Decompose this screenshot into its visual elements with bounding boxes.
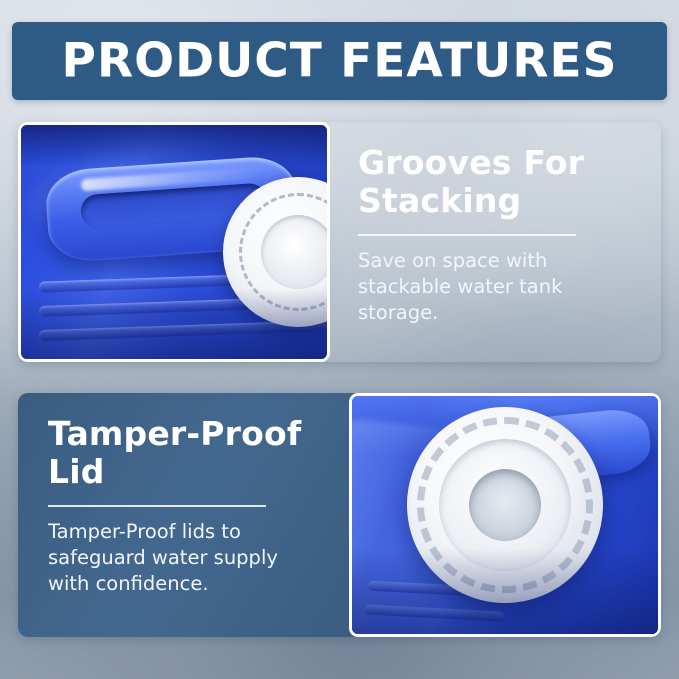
cap-inner-hole [469, 469, 541, 541]
feature-image-grooves-for-stacking [18, 122, 330, 362]
page-title: PRODUCT FEATURES [12, 38, 667, 85]
feature-title: Grooves For Stacking [358, 144, 635, 221]
feature-description: Save on space with stackable water tank … [358, 248, 613, 326]
feature-description: Tamper-Proof lids to safeguard water sup… [48, 519, 303, 597]
feature-card-grooves-for-stacking: Grooves For Stacking Save on space with … [18, 122, 661, 362]
feature-text-tamper-proof-lid: Tamper-Proof Lid Tamper-Proof lids to sa… [18, 393, 349, 637]
feature-card-tamper-proof-lid: Tamper-Proof Lid Tamper-Proof lids to sa… [18, 393, 661, 637]
divider [48, 505, 266, 507]
divider [358, 234, 576, 236]
header-banner: PRODUCT FEATURES [12, 22, 667, 100]
feature-image-tamper-proof-lid [349, 393, 661, 637]
product-features-infographic: PRODUCT FEATURES Grooves For Stacking Sa… [0, 0, 679, 679]
feature-title: Tamper-Proof Lid [48, 415, 331, 492]
feature-text-grooves-for-stacking: Grooves For Stacking Save on space with … [330, 122, 661, 362]
image-bottom-shadow [21, 289, 327, 359]
cap-center [261, 215, 330, 289]
image-bottom-shadow [352, 548, 658, 634]
